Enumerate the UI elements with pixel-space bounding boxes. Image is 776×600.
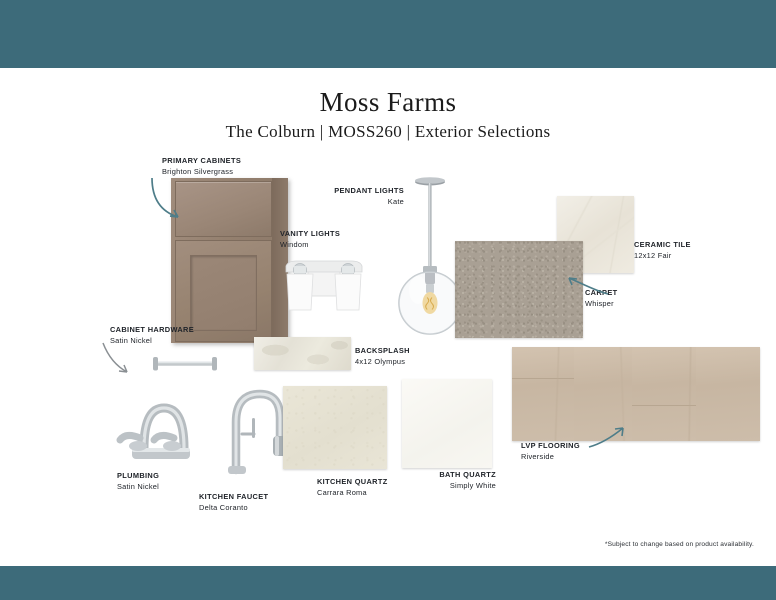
label-bath-quartz-value: Simply White [426, 481, 496, 492]
label-carpet-value: Whisper [585, 299, 618, 310]
label-plumbing-name: PLUMBING [117, 471, 159, 482]
label-kitchen-quartz: KITCHEN QUARTZ Carrara Roma [317, 477, 388, 498]
page-title: Moss Farms [0, 88, 776, 116]
label-lvp-flooring-value: Riverside [521, 452, 580, 463]
arrow-to-primary-cabinets [148, 172, 194, 224]
backsplash-texture [254, 337, 351, 370]
label-vanity-lights-value: Windom [280, 240, 340, 251]
arrow-to-lvp-flooring [586, 424, 628, 450]
label-pendant-lights-name: PENDANT LIGHTS [334, 186, 404, 197]
label-bath-quartz: BATH QUARTZ Simply White [426, 470, 496, 491]
label-backsplash: BACKSPLASH 4x12 Olympus [355, 346, 410, 367]
label-backsplash-value: 4x12 Olympus [355, 357, 410, 368]
label-kitchen-quartz-name: KITCHEN QUARTZ [317, 477, 388, 488]
top-banner-band [0, 0, 776, 68]
page-subtitle: The Colburn | MOSS260 | Exterior Selecti… [0, 122, 776, 142]
label-plumbing-value: Satin Nickel [117, 482, 159, 493]
label-kitchen-faucet: KITCHEN FAUCET Delta Coranto [199, 492, 268, 513]
backsplash-swatch [254, 337, 351, 370]
bath-quartz-swatch [402, 379, 492, 468]
arrow-to-cabinet-hardware [100, 340, 142, 380]
footnote-disclaimer: *Subject to change based on product avai… [605, 541, 754, 548]
arrow-to-carpet [563, 272, 611, 298]
plumbing-faucet-image [114, 382, 204, 472]
label-lvp-flooring-name: LVP FLOORING [521, 441, 580, 452]
pendant-lights-image [396, 176, 464, 342]
vanity-lights-image [278, 252, 370, 318]
kitchen-quartz-swatch [283, 386, 387, 469]
label-plumbing: PLUMBING Satin Nickel [117, 471, 159, 492]
label-vanity-lights: VANITY LIGHTS Windom [280, 229, 340, 250]
label-kitchen-quartz-value: Carrara Roma [317, 488, 388, 499]
bottom-banner-band [0, 566, 776, 600]
title-block: Moss Farms The Colburn | MOSS260 | Exter… [0, 88, 776, 142]
kitchen-quartz-texture [283, 386, 387, 469]
label-ceramic-tile-name: CERAMIC TILE [634, 240, 691, 251]
label-kitchen-faucet-value: Delta Coranto [199, 503, 268, 514]
selections-board: Moss Farms The Colburn | MOSS260 | Exter… [0, 0, 776, 600]
label-kitchen-faucet-name: KITCHEN FAUCET [199, 492, 268, 503]
lvp-flooring-swatch [512, 347, 760, 441]
label-ceramic-tile: CERAMIC TILE 12x12 Fair [634, 240, 691, 261]
label-vanity-lights-name: VANITY LIGHTS [280, 229, 340, 240]
lvp-grain-texture [512, 347, 760, 441]
label-ceramic-tile-value: 12x12 Fair [634, 251, 691, 262]
label-backsplash-name: BACKSPLASH [355, 346, 410, 357]
label-cabinet-hardware-name: CABINET HARDWARE [110, 325, 194, 336]
label-bath-quartz-name: BATH QUARTZ [426, 470, 496, 481]
label-lvp-flooring: LVP FLOORING Riverside [521, 441, 580, 462]
label-pendant-lights-value: Kate [334, 197, 404, 208]
label-pendant-lights: PENDANT LIGHTS Kate [334, 186, 404, 207]
kitchen-faucet-image [214, 378, 292, 478]
cabinet-door-panel [190, 255, 257, 331]
cabinet-hardware-image [148, 353, 222, 375]
label-primary-cabinets-name: PRIMARY CABINETS [162, 156, 241, 167]
